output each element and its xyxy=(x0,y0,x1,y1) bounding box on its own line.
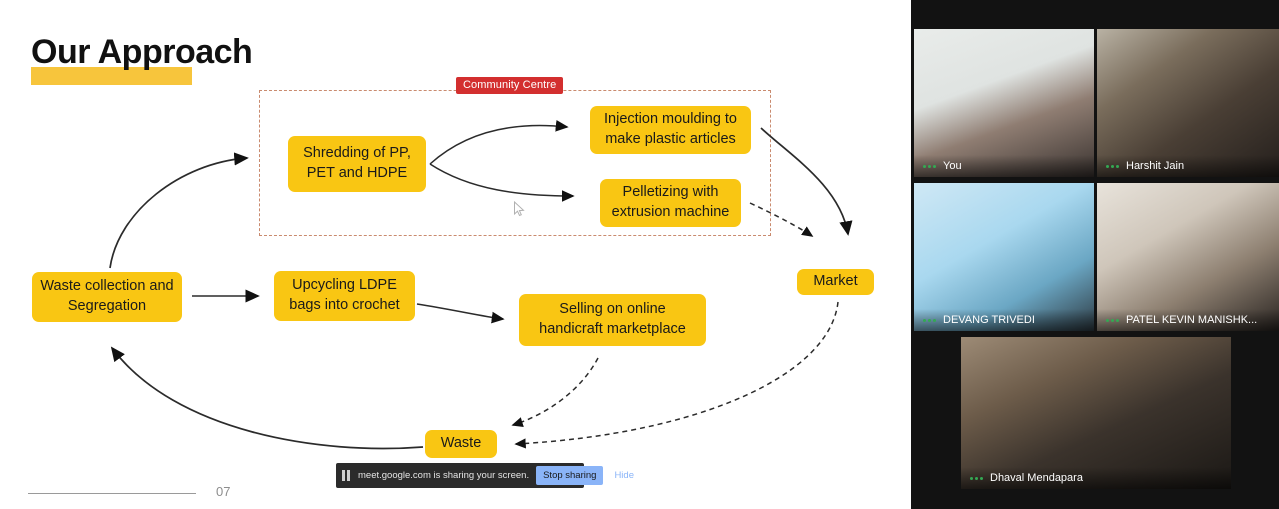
participant-namebar: PATEL KEVIN MANISHK... xyxy=(1097,309,1279,331)
community-centre-label: Community Centre xyxy=(456,77,563,94)
node-waste[interactable]: Waste xyxy=(425,430,497,458)
mic-activity-icon xyxy=(1106,165,1119,168)
node-shredding[interactable]: Shredding of PP, PET and HDPE xyxy=(288,136,426,192)
participant-name: You xyxy=(943,160,962,172)
participant-grid: You Harshit Jain DEVANG TRIVEDI PATEL KE… xyxy=(911,0,1279,509)
participant-name: DEVANG TRIVEDI xyxy=(943,314,1035,326)
page-number: 07 xyxy=(216,484,230,499)
node-selling-online[interactable]: Selling on online handicraft marketplace xyxy=(519,294,706,346)
participant-name: PATEL KEVIN MANISHK... xyxy=(1126,314,1257,326)
participant-tile-harshit-jain[interactable]: Harshit Jain xyxy=(1097,29,1279,177)
node-waste-collection[interactable]: Waste collection and Segregation xyxy=(32,272,182,322)
participant-tile-devang-trivedi[interactable]: DEVANG TRIVEDI xyxy=(914,183,1094,331)
participant-name: Harshit Jain xyxy=(1126,160,1184,172)
mic-activity-icon xyxy=(923,165,936,168)
participant-namebar: Dhaval Mendapara xyxy=(961,467,1231,489)
pause-icon[interactable] xyxy=(342,470,351,481)
participant-namebar: Harshit Jain xyxy=(1097,155,1279,177)
screen-share-bar: meet.google.com is sharing your screen. … xyxy=(336,463,584,488)
node-injection-moulding[interactable]: Injection moulding to make plastic artic… xyxy=(590,106,751,154)
hide-button[interactable]: Hide xyxy=(610,470,638,481)
participant-tile-you[interactable]: You xyxy=(914,29,1094,177)
node-pelletizing[interactable]: Pelletizing with extrusion machine xyxy=(600,179,741,227)
footer-rule xyxy=(28,493,196,494)
participant-tile-patel-kevin[interactable]: PATEL KEVIN MANISHK... xyxy=(1097,183,1279,331)
shared-slide: Our Approach Community Centre xyxy=(0,0,911,509)
participant-namebar: DEVANG TRIVEDI xyxy=(914,309,1094,331)
node-upcycling-ldpe[interactable]: Upcycling LDPE bags into crochet xyxy=(274,271,415,321)
node-market[interactable]: Market xyxy=(797,269,874,295)
participant-name: Dhaval Mendapara xyxy=(990,472,1083,484)
page-title: Our Approach xyxy=(31,33,252,72)
participant-tile-dhaval-mendapara[interactable]: Dhaval Mendapara xyxy=(961,337,1231,489)
stop-sharing-button[interactable]: Stop sharing xyxy=(536,466,603,485)
participant-namebar: You xyxy=(914,155,1094,177)
share-message: meet.google.com is sharing your screen. xyxy=(358,470,529,481)
mic-activity-icon xyxy=(1106,319,1119,322)
meeting-screen: Our Approach Community Centre xyxy=(0,0,1279,509)
mic-activity-icon xyxy=(970,477,983,480)
mouse-cursor-icon xyxy=(513,201,526,217)
mic-activity-icon xyxy=(923,319,936,322)
